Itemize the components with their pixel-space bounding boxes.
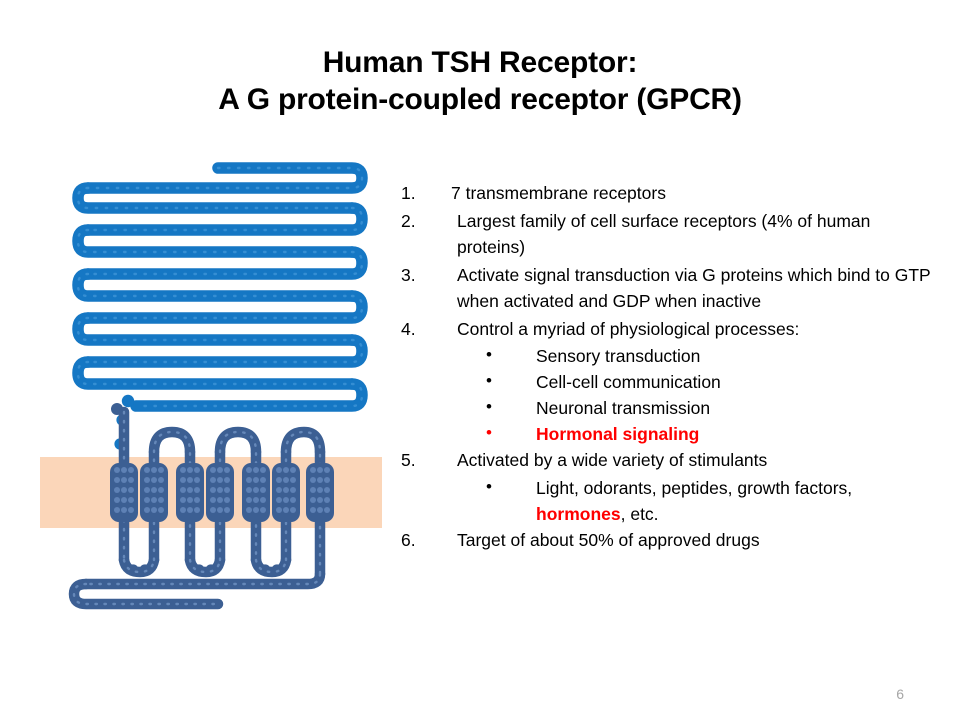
stimulants-text-before: Light, odorants, peptides, growth factor… [536, 478, 852, 498]
list-item-2-text: Largest family of cell surface receptors… [457, 208, 943, 261]
page-number: 6 [896, 686, 904, 702]
extracellular-domain [78, 168, 362, 406]
list-item-6-text: Target of about 50% of approved drugs [457, 527, 943, 554]
helix-3 [176, 463, 204, 522]
sublist-item-label: Light, odorants, peptides, growth factor… [536, 478, 852, 524]
list-item-4-number: 4. [401, 316, 427, 343]
sublist-5: • Light, odorants, peptides, growth fact… [398, 475, 943, 527]
sublist-item-stimulants: • Light, odorants, peptides, growth fact… [398, 475, 943, 527]
transmembrane-helices [110, 463, 334, 522]
sublist-item-label: Hormonal signaling [536, 424, 699, 444]
bullet-dot-icon: • [486, 368, 492, 394]
list-item-6: 6. Target of about 50% of approved drugs [398, 527, 943, 554]
stimulants-text-after: , etc. [621, 504, 659, 524]
list-item-5-number: 5. [401, 447, 427, 474]
bullet-dot-icon: • [486, 474, 492, 500]
bullet-dot-icon: • [486, 394, 492, 420]
helix-2 [140, 463, 168, 522]
helix-1 [110, 463, 138, 522]
list-item-1-text: 7 transmembrane receptors [451, 180, 943, 207]
sublist-item-label: Cell-cell communication [536, 372, 721, 392]
c-terminal-tail [74, 574, 320, 604]
list-item-2: 2. Largest family of cell surface recept… [398, 208, 943, 261]
sublist-4: • Sensory transduction • Cell-cell commu… [398, 343, 943, 447]
list-item-3-number: 3. [401, 262, 427, 289]
slide-canvas: Human TSH Receptor: A G protein-coupled … [0, 0, 960, 720]
list-item-5-text: Activated by a wide variety of stimulant… [457, 447, 943, 474]
sublist-item-label: Neuronal transmission [536, 398, 710, 418]
helix-5 [242, 463, 270, 522]
sublist-item-neuronal-transmission: • Neuronal transmission [398, 395, 943, 421]
list-item-3: 3. Activate signal transduction via G pr… [398, 262, 943, 315]
stimulants-text-hormones: hormones [536, 504, 621, 524]
list-item-4-text: Control a myriad of physiological proces… [457, 316, 943, 343]
bullet-list: 1. 7 transmembrane receptors 2. Largest … [398, 180, 943, 554]
list-item-3-text: Activate signal transduction via G prote… [457, 262, 943, 315]
list-item-6-number: 6. [401, 527, 427, 554]
bullet-dot-icon: • [486, 420, 492, 446]
helix-4 [206, 463, 234, 522]
sublist-item-label: Sensory transduction [536, 346, 700, 366]
gpcr-receptor-diagram [0, 0, 420, 620]
list-item-1-number: 1. [401, 180, 427, 207]
list-item-5: 5. Activated by a wide variety of stimul… [398, 447, 943, 474]
sublist-item-cell-cell-communication: • Cell-cell communication [398, 369, 943, 395]
list-item-2-number: 2. [401, 208, 427, 235]
bullet-dot-icon: • [486, 342, 492, 368]
list-item-4: 4. Control a myriad of physiological pro… [398, 316, 943, 343]
sublist-item-hormonal-signaling: • Hormonal signaling [398, 421, 943, 447]
helix-6 [272, 463, 300, 522]
sublist-item-sensory-transduction: • Sensory transduction [398, 343, 943, 369]
helix-7 [306, 463, 334, 522]
list-item-1: 1. 7 transmembrane receptors [398, 180, 943, 207]
